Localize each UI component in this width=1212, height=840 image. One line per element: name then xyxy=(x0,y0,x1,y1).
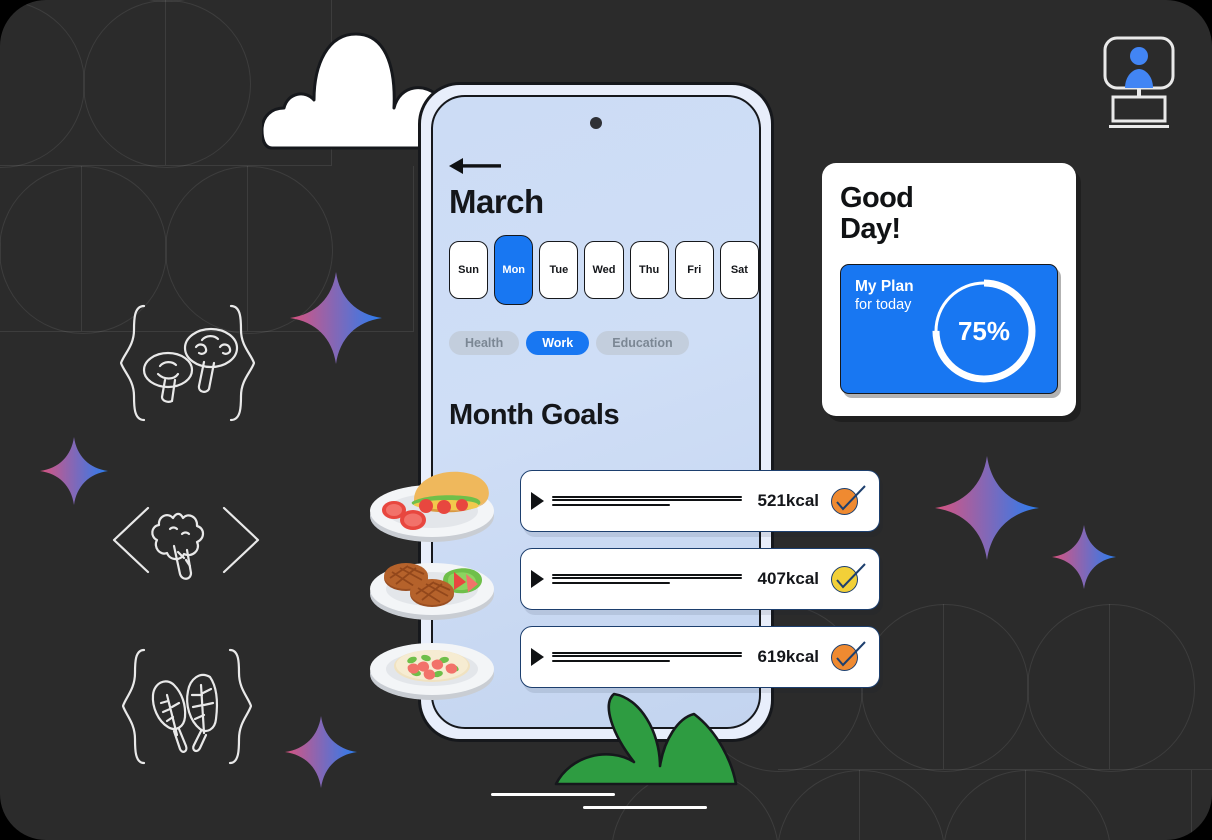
day-pill-mon[interactable]: Mon xyxy=(494,235,533,305)
sparkle-icon xyxy=(1052,525,1116,589)
goal-placeholder-lines xyxy=(552,574,758,584)
steak-plate-icon xyxy=(368,538,496,624)
check-icon xyxy=(831,484,867,518)
sandwich-plate-icon xyxy=(368,460,496,546)
play-icon[interactable] xyxy=(531,648,544,666)
chip-health[interactable]: Health xyxy=(449,331,519,355)
chip-education[interactable]: Education xyxy=(596,331,688,355)
shrimp-pasta-plate-icon xyxy=(368,618,496,704)
day-pill-wed[interactable]: Wed xyxy=(584,241,623,299)
play-icon[interactable] xyxy=(531,570,544,588)
page-title: March xyxy=(449,183,759,221)
day-pill-fri[interactable]: Fri xyxy=(675,241,714,299)
sparkle-icon xyxy=(935,456,1039,560)
chip-work[interactable]: Work xyxy=(526,331,589,355)
presentation-person-icon xyxy=(1103,36,1175,130)
good-day-title-line1: Good xyxy=(840,183,1058,214)
goal-check[interactable] xyxy=(831,640,865,674)
progress-ring: 75% xyxy=(929,276,1039,386)
good-day-card: Good Day! My Plan for today 75% xyxy=(822,163,1076,416)
check-icon xyxy=(831,562,867,596)
goal-calories: 619kcal xyxy=(758,647,819,667)
goal-placeholder-lines xyxy=(552,652,758,662)
sparkle-icon xyxy=(40,437,108,505)
goal-row[interactable]: 407kcal xyxy=(520,548,880,610)
good-day-title: Good Day! xyxy=(840,183,1058,245)
goal-calories: 521kcal xyxy=(758,491,819,511)
good-day-title-line2: Day! xyxy=(840,214,1058,245)
poster-canvas: March Sun Mon Tue Wed Thu Fri Sat Health… xyxy=(0,0,1212,840)
sparkle-icon xyxy=(285,716,357,788)
goal-calories: 407kcal xyxy=(758,569,819,589)
day-pill-thu[interactable]: Thu xyxy=(630,241,669,299)
day-pill-sat[interactable]: Sat xyxy=(720,241,759,299)
play-icon[interactable] xyxy=(531,492,544,510)
progress-percent: 75% xyxy=(929,276,1039,386)
day-pill-sun[interactable]: Sun xyxy=(449,241,488,299)
my-plan-label: My Plan for today xyxy=(855,278,914,315)
category-filter[interactable]: Health Work Education xyxy=(449,331,759,355)
goal-row[interactable]: 619kcal xyxy=(520,626,880,688)
goal-list: 521kcal 407kcal xyxy=(520,470,880,704)
ground-line xyxy=(583,806,707,809)
goal-row[interactable]: 521kcal xyxy=(520,470,880,532)
my-plan-panel[interactable]: My Plan for today 75% xyxy=(840,264,1058,394)
goal-check[interactable] xyxy=(831,562,865,596)
section-title: Month Goals xyxy=(449,399,759,432)
plan-title: My Plan xyxy=(855,278,914,295)
back-arrow-icon[interactable] xyxy=(449,155,501,177)
sparkle-icon xyxy=(290,272,382,364)
broccoli-icon xyxy=(112,492,260,588)
goal-placeholder-lines xyxy=(552,496,758,506)
goal-check[interactable] xyxy=(831,484,865,518)
ground-line xyxy=(491,793,615,796)
spinach-leaves-icon xyxy=(122,645,252,769)
day-selector[interactable]: Sun Mon Tue Wed Thu Fri Sat xyxy=(449,241,759,305)
mushroom-icon xyxy=(120,300,255,426)
check-icon xyxy=(831,640,867,674)
day-pill-tue[interactable]: Tue xyxy=(539,241,578,299)
plan-subtitle: for today xyxy=(855,297,911,313)
leaf-plant-shape xyxy=(548,690,748,788)
